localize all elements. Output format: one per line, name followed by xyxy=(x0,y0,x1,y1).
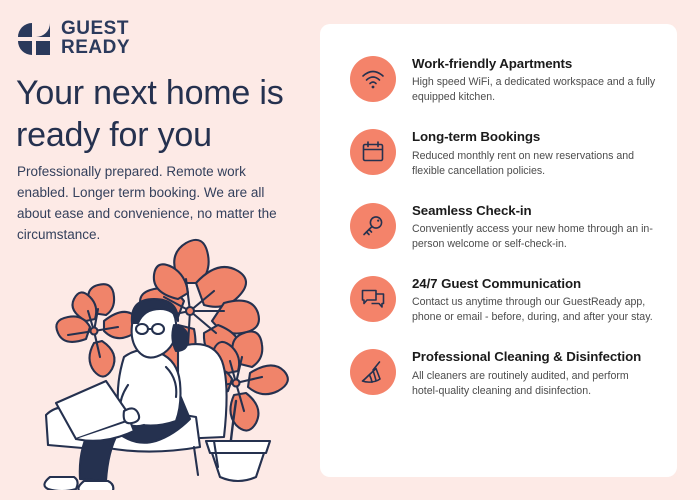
feature-title: Work-friendly Apartments xyxy=(412,55,658,72)
wifi-icon xyxy=(360,66,386,92)
feature-icon-circle xyxy=(350,349,396,395)
feature-icon-circle xyxy=(350,276,396,322)
hero-column: GUEST READY Your next home is ready for … xyxy=(0,0,316,500)
hero-illustration xyxy=(28,225,318,490)
feature-list: Work-friendly Apartments High speed WiFi… xyxy=(320,24,677,399)
brand-name-line1: GUEST xyxy=(61,20,130,39)
feature-icon-circle xyxy=(350,203,396,249)
feature-icon-circle xyxy=(350,56,396,102)
feature-title: Long-term Bookings xyxy=(412,128,658,145)
calendar-icon xyxy=(360,139,386,165)
feature-text: Long-term Bookings Reduced monthly rent … xyxy=(412,127,658,178)
feature-text: Seamless Check-in Conveniently access yo… xyxy=(412,201,658,252)
feature-description: All cleaners are routinely audited, and … xyxy=(412,369,658,399)
brand-logo[interactable]: GUEST READY xyxy=(16,20,130,57)
feature-item[interactable]: Long-term Bookings Reduced monthly rent … xyxy=(350,127,659,178)
broom-icon xyxy=(360,359,386,385)
chat-bubbles-icon xyxy=(360,286,386,312)
page-headline: Your next home is ready for you xyxy=(16,72,306,156)
feature-item[interactable]: 24/7 Guest Communication Contact us anyt… xyxy=(350,274,659,325)
feature-item[interactable]: Professional Cleaning & Disinfection All… xyxy=(350,347,659,398)
feature-icon-circle xyxy=(350,129,396,175)
brand-name-line2: READY xyxy=(61,39,130,58)
feature-item[interactable]: Seamless Check-in Conveniently access yo… xyxy=(350,201,659,252)
feature-text: 24/7 Guest Communication Contact us anyt… xyxy=(412,274,658,325)
feature-title: Seamless Check-in xyxy=(412,202,658,219)
features-card: Work-friendly Apartments High speed WiFi… xyxy=(320,24,677,477)
brand-wordmark: GUEST READY xyxy=(61,20,130,57)
feature-description: Reduced monthly rent on new reservations… xyxy=(412,149,658,179)
feature-description: Conveniently access your new home throug… xyxy=(412,222,658,252)
feature-text: Work-friendly Apartments High speed WiFi… xyxy=(412,54,658,105)
feature-title: Professional Cleaning & Disinfection xyxy=(412,348,658,365)
key-icon xyxy=(360,213,386,239)
feature-item[interactable]: Work-friendly Apartments High speed WiFi… xyxy=(350,54,659,105)
guestready-quadrant-logo-icon xyxy=(16,21,52,57)
feature-title: 24/7 Guest Communication xyxy=(412,275,658,292)
feature-text: Professional Cleaning & Disinfection All… xyxy=(412,347,658,398)
promo-page: GUEST READY Your next home is ready for … xyxy=(0,0,700,500)
feature-description: Contact us anytime through our GuestRead… xyxy=(412,295,658,325)
feature-description: High speed WiFi, a dedicated workspace a… xyxy=(412,75,658,105)
